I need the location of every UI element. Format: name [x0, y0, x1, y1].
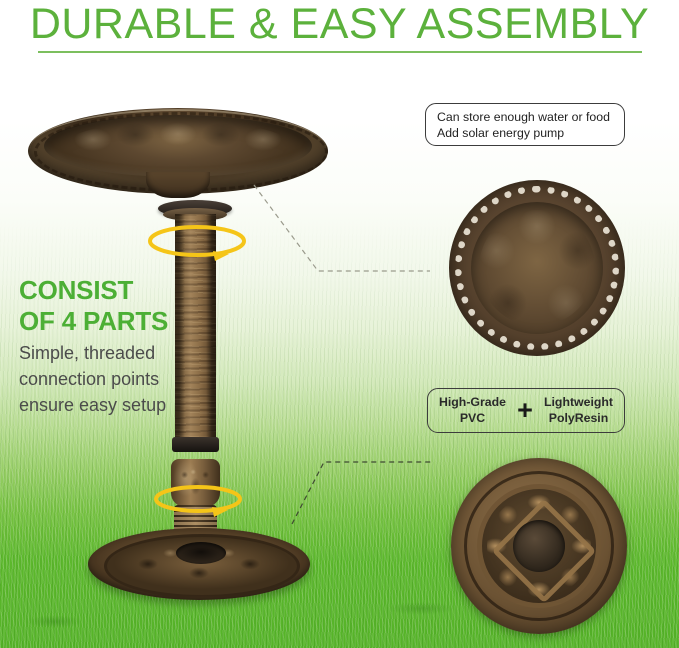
- inset-base-scrollwork: [487, 494, 591, 598]
- birdbath-bowl: [28, 108, 328, 218]
- material-pvc: High-Grade PVC: [439, 395, 506, 426]
- base-center-hole: [176, 542, 226, 564]
- inset-bowl-beaded-rim: [455, 186, 619, 350]
- pole-top-cap: [158, 200, 232, 217]
- inset-base-outer-ring: [464, 471, 614, 621]
- rotation-arrow-upper-icon: [145, 218, 249, 264]
- page-title: DURABLE & EASY ASSEMBLY: [0, 0, 679, 50]
- bowl-body: [28, 108, 328, 194]
- material-polyresin: Lightweight PolyResin: [544, 395, 613, 426]
- inset-base-inner-ring: [477, 484, 601, 608]
- callout-materials: High-Grade PVC + Lightweight PolyResin: [427, 388, 625, 433]
- base-plate: [88, 528, 310, 610]
- leader-line-top: [250, 175, 435, 300]
- callout-water-food-line2: Add solar energy pump: [437, 126, 624, 142]
- material-pvc-line2: PVC: [439, 411, 506, 427]
- consist-headline: CONSIST OF 4 PARTS: [19, 275, 229, 337]
- material-pvc-line1: High-Grade: [439, 395, 506, 411]
- bowl-petal-pattern: [66, 121, 290, 167]
- pole-bottom-band: [172, 437, 219, 452]
- infographic-page: DURABLE & EASY ASSEMBLY: [0, 0, 679, 648]
- rotation-arrow-lower-icon: [152, 478, 244, 520]
- inset-bowl-dish: [471, 202, 603, 334]
- bowl-beaded-rim: [34, 112, 328, 192]
- inset-base-center-medallion: [513, 520, 565, 572]
- base-inner-ring: [104, 534, 300, 598]
- inset-bowl-top-view: [449, 180, 625, 356]
- finial-scrollwork: [176, 464, 215, 500]
- base-scrollwork: [114, 538, 284, 588]
- bowl-inner-basin: [44, 115, 312, 177]
- bowl-foot: [146, 172, 210, 198]
- callout-water-food: Can store enough water or food Add solar…: [425, 103, 625, 146]
- base-outer-rim: [88, 528, 310, 600]
- material-polyresin-line1: Lightweight: [544, 395, 613, 411]
- material-polyresin-line2: PolyResin: [544, 411, 613, 427]
- consist-headline-line2: OF 4 PARTS: [19, 306, 229, 337]
- bowl-rim-highlight: [30, 109, 326, 189]
- consist-headline-line1: CONSIST: [19, 275, 229, 306]
- inset-base-square-motif: [492, 499, 597, 604]
- threaded-connector: [174, 505, 217, 533]
- pole-top-collar: [163, 208, 227, 221]
- callout-water-food-line1: Can store enough water or food: [437, 110, 624, 126]
- inset-bowl-petal-pattern: [479, 210, 595, 326]
- plus-icon: +: [515, 397, 535, 424]
- inset-base-top-view: [451, 458, 627, 634]
- leader-line-bottom: [288, 428, 438, 528]
- decorative-finial: [171, 459, 220, 507]
- consist-body-text: Simple, threaded connection points ensur…: [19, 340, 204, 418]
- title-underline: [38, 51, 642, 53]
